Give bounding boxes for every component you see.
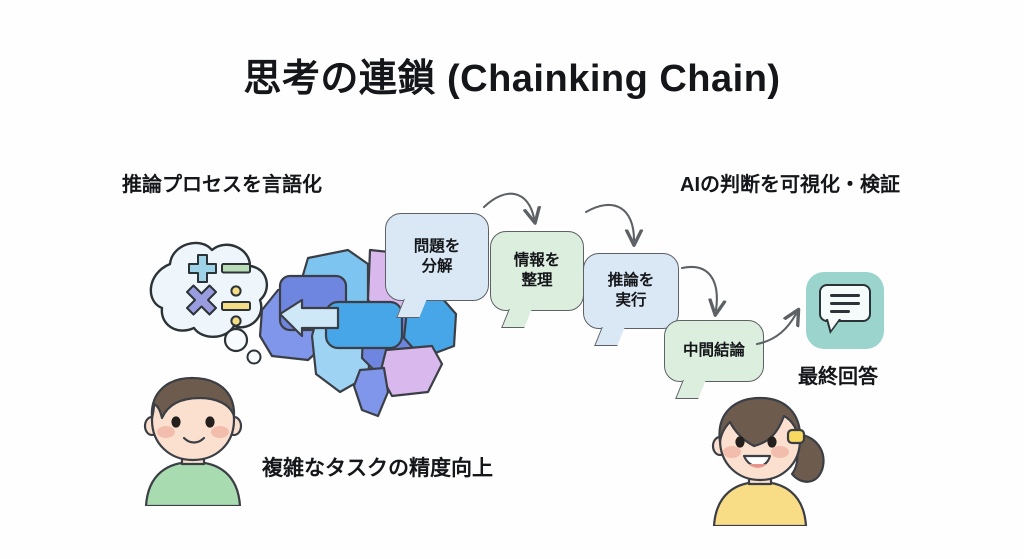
- cheek: [211, 426, 229, 438]
- arrow-1: [484, 194, 534, 218]
- cheek: [771, 446, 789, 458]
- eye: [171, 416, 180, 427]
- boy-character: [134, 374, 252, 511]
- eye: [735, 436, 744, 447]
- eye: [767, 436, 776, 447]
- arrow-4: [757, 314, 796, 344]
- cheek: [157, 426, 175, 438]
- arrow-3: [682, 267, 717, 310]
- arrow-2: [586, 205, 634, 240]
- girl-character: [704, 394, 832, 531]
- cheek: [723, 446, 741, 458]
- slide-canvas: 思考の連鎖 (Chainking Chain) 推論プロセスを言語化 AIの判断…: [0, 0, 1024, 559]
- eye: [205, 416, 214, 427]
